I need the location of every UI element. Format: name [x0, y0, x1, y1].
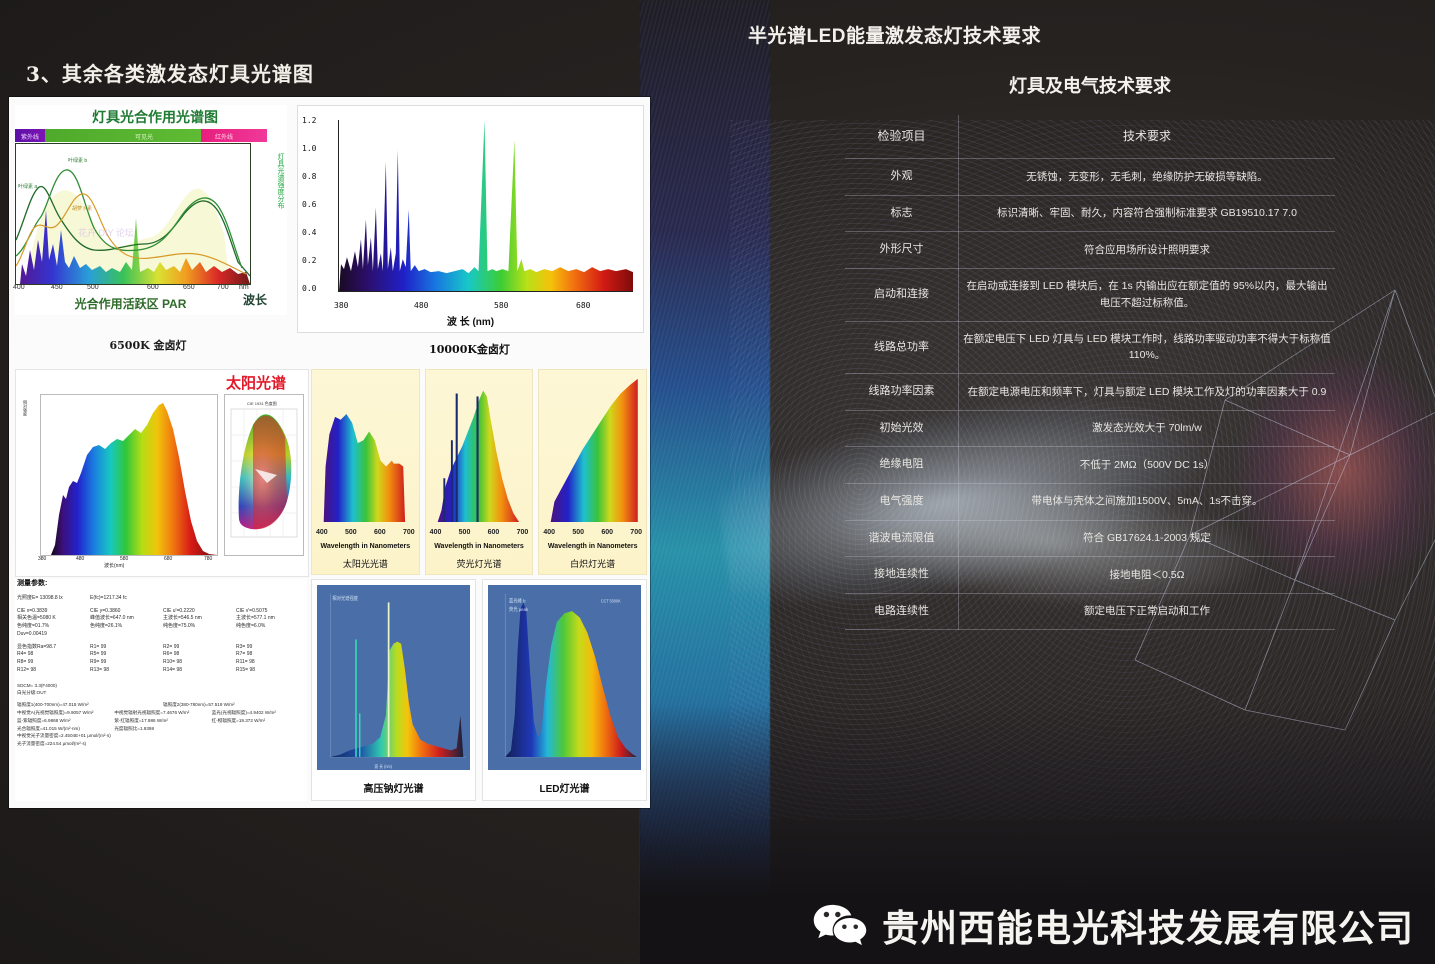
row-requirement-value: 不低于 2MΩ（500V DC 1s）	[959, 447, 1336, 484]
left-section-heading: 3、其余各类激发态灯具光谱图	[26, 58, 314, 87]
x-tick: 500	[459, 529, 471, 536]
x-tick: 480	[414, 301, 428, 310]
params-row: R12= 98 R13= 98 R14= 98 R15= 98	[15, 667, 307, 675]
param-note: SDCM= 3.3(F4000)	[15, 682, 307, 690]
solar-y-axis-label: 相对强度	[22, 400, 28, 416]
param-note: 光子流量密度=224.54 μmol/(m²·s)	[15, 740, 307, 748]
param-cell: 纯色度=75.0%	[161, 623, 234, 631]
table-row: 电气强度 带电体与壳体之间施加1500V、5mA、1s不击穿。	[845, 483, 1335, 520]
x-tick: 700	[217, 284, 229, 291]
param-cell: R6= 98	[161, 651, 234, 659]
param-cell: R14= 98	[161, 667, 234, 675]
footer-bar: 贵州西能电光科技发展有限公司	[812, 898, 1414, 952]
table-row: 线路功率因素 在额定电源电压和频率下，灯具与额定 LED 模块工作及灯的功率因素…	[845, 374, 1335, 411]
svg-text:CCT 5000K: CCT 5000K	[601, 598, 621, 603]
right-panel-subtitle: 灯具及电气技术要求	[845, 72, 1335, 98]
y-tick: 0.8	[302, 172, 316, 181]
param-note: 辐照度2(380-780nm)=57.519 W/m²	[161, 701, 307, 709]
mini-chart-sunlight: 400 500 600 700 Wavelength in Nanometers…	[311, 369, 420, 575]
row-item-label: 谐波电流限值	[845, 520, 959, 557]
row-requirement-value: 符合应用场所设计照明要求	[959, 232, 1336, 269]
row-requirement-value: 符合 GB17624.1-2003 规定	[959, 520, 1336, 557]
param-cell	[234, 631, 307, 639]
x-tick: 700	[403, 529, 415, 536]
param-cell: R12= 98	[15, 667, 88, 675]
table-row: 谐波电流限值 符合 GB17624.1-2003 规定	[845, 520, 1335, 557]
photosynthesis-spectrum-chart: 灯具光合作用光谱图 紫外线 可见光 红外线	[15, 105, 287, 315]
y-tick: 0.4	[302, 228, 316, 237]
spectra-figure-card: 灯具光合作用光谱图 紫外线 可见光 红外线	[9, 97, 650, 808]
par-label: 光合作用活跃区 PAR	[23, 295, 238, 312]
row-item-label: 外形尺寸	[845, 232, 959, 269]
blue-chart-led: 蓝光峰 b 荧光 peak CCT 5000K LED灯光谱	[482, 579, 647, 801]
param-cell: 光照度E= 13098.8 lx	[15, 595, 88, 603]
row-item-label: 线路功率因素	[845, 374, 959, 411]
row-requirement-value: 激发态光效大于 70lm/w	[959, 410, 1336, 447]
company-name: 贵州西能电光科技发展有限公司	[882, 898, 1414, 952]
svg-text:蓝光峰 b: 蓝光峰 b	[509, 597, 526, 604]
blue-chart-caption: 高压钠灯光谱	[312, 780, 475, 795]
wechat-icon	[812, 903, 868, 947]
x-tick: 380	[38, 556, 46, 562]
slide-canvas: 3、其余各类激发态灯具光谱图 灯具光合作用光谱图 紫外线 可见光 红外线	[0, 0, 1435, 964]
svg-text:波 长 (nm): 波 长 (nm)	[374, 763, 392, 769]
x-tick: 700	[630, 529, 642, 536]
blue-chart-caption: LED灯光谱	[483, 780, 646, 795]
params-row: Duv=0.00419	[15, 631, 307, 639]
row-requirement-value: 接地电阻＜0.5Ω	[959, 557, 1336, 594]
x-tick: 580	[494, 301, 508, 310]
row-requirement-value: 无锈蚀，无变形，无毛刺，绝缘防护无破损等缺陷。	[959, 159, 1336, 196]
row-item-label: 外观	[845, 159, 959, 196]
mini-chart-caption: 白炽灯光谱	[539, 557, 646, 570]
mini-chart-incandescent: 400 500 600 700 Wavelength in Nanometers…	[538, 369, 647, 575]
tenk-x-axis-title: 波 长 (nm)	[298, 313, 643, 328]
param-cell: 色纯度=01.7%	[15, 623, 88, 631]
params-cri-table: 显色指数Ra=98.7 R1= 99 R2= 99 R3= 99 R4= 98 …	[15, 644, 307, 675]
row-requirement-value: 在额定电压下 LED 灯具与 LED 模块工作时，线路功率驱动功率不得大于标称值…	[959, 321, 1336, 374]
blue-plot-area: 相对光谱强度 波 长 (nm)	[317, 585, 470, 770]
blue-plot-area: 蓝光峰 b 荧光 peak CCT 5000K	[488, 585, 641, 770]
x-tick: 400	[13, 284, 25, 291]
params-heading: 测量参数:	[17, 579, 307, 590]
x-tick: 650	[183, 284, 195, 291]
row-requirement-value: 在额定电源电压和频率下，灯具与额定 LED 模块工作及灯的功率因素大于 0.9	[959, 374, 1336, 411]
param-note: 白光分级:OUT	[15, 689, 307, 697]
param-cell: R2= 99	[161, 644, 234, 652]
x-tick: 400	[316, 529, 328, 536]
photosynthesis-chart-caption: 6500K 金卤灯	[23, 337, 273, 353]
tenk-spectrum-chart: 1.2 1.0 0.8 0.6 0.4 0.2 0.0	[297, 105, 644, 333]
row-item-label: 电气强度	[845, 483, 959, 520]
right-panel-title: 半光谱LED能量激发态灯技术要求	[748, 21, 1041, 48]
param-note: 中视觉A(光视觉辐照度)=9.9057 W/m²	[15, 709, 112, 717]
svg-text:花卉 DIY 论坛: 花卉 DIY 论坛	[78, 227, 134, 238]
row-item-label: 线路总功率	[845, 321, 959, 374]
svg-text:荧光 peak: 荧光 peak	[509, 606, 529, 613]
mini-x-title: Wavelength in Nanometers	[312, 543, 419, 550]
x-tick: 780	[204, 556, 212, 562]
svg-text:胡萝卜素: 胡萝卜素	[72, 205, 92, 212]
param-cell	[161, 595, 234, 603]
param-note: 辐照度1(400-700nm)=47.015 W/m²	[15, 701, 161, 709]
x-tick: 500	[87, 284, 99, 291]
params-notes-block: SDCM= 3.3(F4000) 白光分级:OUT 辐照度1(400-700nm…	[15, 682, 307, 748]
table-row: 外观 无锈蚀，无变形，无毛刺，绝缘防护无破损等缺陷。	[845, 159, 1335, 196]
param-cell: R3= 99	[234, 644, 307, 652]
x-tick: 380	[334, 301, 348, 310]
param-note: 蓝-紫辐照度=6.9868 W/m²	[15, 717, 112, 725]
row-item-label: 接地连续性	[845, 557, 959, 594]
param-cell: R13= 98	[88, 667, 161, 675]
param-cell: 相关色温=5080 K	[15, 615, 88, 623]
column-header-item: 检验项目	[845, 115, 959, 159]
params-row: 显色指数Ra=98.7 R1= 99 R2= 99 R3= 99	[15, 644, 307, 652]
solar-chart-title: 太阳光谱	[226, 372, 286, 393]
svg-text:叶绿素 b: 叶绿素 b	[68, 157, 87, 164]
tenk-plot-area	[338, 120, 633, 292]
table-row: 标志 标识清晰、牢固、耐久，内容符合强制标准要求 GB19510.17 7.0	[845, 195, 1335, 232]
param-cell	[88, 631, 161, 639]
mini-plot-area	[432, 376, 527, 522]
param-cell: R15= 98	[234, 667, 307, 675]
table-row: 外形尺寸 符合应用场所设计照明要求	[845, 232, 1335, 269]
y-tick: 0.6	[302, 200, 316, 209]
x-tick: 600	[374, 529, 386, 536]
band-label-uv: 紫外线	[21, 132, 39, 141]
mini-chart-caption: 荧光灯光谱	[426, 557, 533, 570]
params-row: 色纯度=01.7% 色纯度=26.1% 纯色度=75.0% 纯色度=6.0%	[15, 623, 307, 631]
param-cell: R10= 98	[161, 659, 234, 667]
y-tick: 1.2	[302, 116, 316, 125]
x-tick: 500	[345, 529, 357, 536]
mini-chart-caption: 太阳光光谱	[312, 557, 419, 570]
photosynthesis-y-axis-label: 灯具光谱强度分布	[275, 153, 285, 209]
table-row: 接地连续性 接地电阻＜0.5Ω	[845, 557, 1335, 594]
param-cell: Duv=0.00419	[15, 631, 88, 639]
cie-chromaticity-diagram: CIE 1931 色度图	[224, 394, 304, 556]
mini-x-ticks: 400 500 600 700	[316, 529, 415, 536]
blue-spectra-row: 相对光谱强度 波 长 (nm) 高压钠灯光谱	[311, 579, 647, 801]
x-tick: 400	[543, 529, 555, 536]
mini-x-title: Wavelength in Nanometers	[539, 543, 646, 550]
x-tick: 450	[51, 284, 63, 291]
solar-spectrum-chart: 太阳光谱 相对强度	[15, 369, 309, 577]
mini-x-ticks: 400 500 600 700	[430, 529, 529, 536]
row-requirement-value: 额定电压下正常启动和工作	[959, 593, 1336, 630]
mini-x-ticks: 400 500 600 700	[543, 529, 642, 536]
y-tick: 0.0	[302, 284, 316, 293]
column-header-requirement: 技术要求	[959, 115, 1336, 159]
x-tick: 680	[576, 301, 590, 310]
x-tick: 600	[488, 529, 500, 536]
param-note: 光合辐照度=41.015 W/(m²·nm)	[15, 725, 112, 733]
svg-text:相对光谱强度: 相对光谱强度	[332, 595, 358, 602]
param-cell: R1= 99	[88, 644, 161, 652]
param-cell: 峰值波长=647.0 nm	[88, 615, 161, 623]
row-item-label: 标志	[845, 195, 959, 232]
param-cell: 显色指数Ra=98.7	[15, 644, 88, 652]
params-row: 相关色温=5080 K 峰值波长=647.0 nm 主波长=546.5 nm 主…	[15, 615, 307, 623]
x-tick-unit: nm	[239, 284, 249, 291]
param-cell	[161, 631, 234, 639]
mini-plot-area	[545, 376, 640, 522]
photosynthesis-chart-title: 灯具光合作用光谱图	[35, 107, 275, 127]
row-item-label: 初始光效	[845, 410, 959, 447]
param-cell: R8= 99	[15, 659, 88, 667]
param-note: 中视觉光子流量密度=2.4504E+01 μmol/(m²·s)	[15, 732, 307, 740]
param-cell: 色纯度=26.1%	[88, 623, 161, 631]
spec-requirements-table: 检验项目 技术要求 外观 无锈蚀，无变形，无毛刺，绝缘防护无破损等缺陷。 标志 …	[845, 115, 1335, 630]
param-note: 蓝光(光视辐照度)=4.9402 W/m²	[210, 709, 307, 717]
param-cell: 主波长=546.5 nm	[161, 615, 234, 623]
band-label-visible: 可见光	[135, 132, 153, 141]
row-item-label: 电路连续性	[845, 593, 959, 630]
row-item-label: 绝缘电阻	[845, 447, 959, 484]
param-cell	[234, 595, 307, 603]
table-row: 绝缘电阻 不低于 2MΩ（500V DC 1s）	[845, 447, 1335, 484]
params-row: R8= 99 R9= 99 R10= 98 R11= 98	[15, 659, 307, 667]
photosynthesis-plot-area: 叶绿素 b 叶绿素 a 胡萝卜素 花卉 DIY 论坛	[15, 143, 251, 285]
x-tick: 700	[517, 529, 529, 536]
table-row: 线路总功率 在额定电压下 LED 灯具与 LED 模块工作时，线路功率驱动功率不…	[845, 321, 1335, 374]
mini-plot-area	[318, 376, 413, 522]
mini-spectra-row: 400 500 600 700 Wavelength in Nanometers…	[311, 369, 647, 575]
mini-chart-fluorescent: 400 500 600 700 Wavelength in Nanometers…	[425, 369, 534, 575]
param-cell: R5= 99	[88, 651, 161, 659]
param-note: 中视觉辐射光视辐照度=7.4676 W/m²	[112, 709, 209, 717]
param-note: 光度辐照比=1.9398	[112, 725, 209, 733]
x-tick: 680	[164, 556, 172, 562]
table-row: 电路连续性 额定电压下正常启动和工作	[845, 593, 1335, 630]
spectrum-band-bar: 紫外线 可见光 红外线	[15, 129, 267, 142]
svg-text:叶绿素 a: 叶绿素 a	[18, 183, 37, 190]
param-cell: R4= 98	[15, 651, 88, 659]
x-tick: 400	[430, 529, 442, 536]
x-tick: 500	[572, 529, 584, 536]
table-header-row: 检验项目 技术要求	[845, 115, 1335, 159]
x-tick: 600	[601, 529, 613, 536]
tenk-chart-caption: 10000K金卤灯	[297, 341, 642, 357]
param-cell: E(fc)=1217.34 fc	[88, 595, 161, 603]
table-row: 初始光效 激发态光效大于 70lm/w	[845, 410, 1335, 447]
solar-plot-area	[40, 394, 218, 556]
row-requirement-value: 带电体与壳体之间施加1500V、5mA、1s不击穿。	[959, 483, 1336, 520]
param-note: 红-橙辐照度=19.372 W/m²	[210, 717, 307, 725]
photosynthesis-x-axis-title: 波长	[243, 291, 267, 308]
param-note: 紫-红辐照度=17.986 W/m²	[112, 717, 209, 725]
row-requirement-value: 标识清晰、牢固、耐久，内容符合强制标准要求 GB19510.17 7.0	[959, 195, 1336, 232]
param-cell: R9= 99	[88, 659, 161, 667]
params-row: R4= 98 R5= 99 R6= 98 R7= 98	[15, 651, 307, 659]
param-cell: R7= 98	[234, 651, 307, 659]
measurement-parameters-block: 测量参数: 光照度E= 13098.8 lx E(fc)=1217.34 fc …	[15, 579, 307, 801]
row-requirement-value: 在启动或连接到 LED 模块后，在 1s 内输出应在额定值的 95%以内，最大输…	[959, 268, 1336, 321]
table-row: 启动和连接 在启动或连接到 LED 模块后，在 1s 内输出应在额定值的 95%…	[845, 268, 1335, 321]
mini-x-title: Wavelength in Nanometers	[426, 543, 533, 550]
blue-chart-sodium: 相对光谱强度 波 长 (nm) 高压钠灯光谱	[311, 579, 476, 801]
x-tick: 600	[147, 284, 159, 291]
svg-text:CIE 1931 色度图: CIE 1931 色度图	[247, 400, 277, 406]
x-tick: 480	[76, 556, 84, 562]
params-primary-table: 光照度E= 13098.8 lx E(fc)=1217.34 fc	[15, 595, 307, 603]
row-item-label: 启动和连接	[845, 268, 959, 321]
y-tick: 1.0	[302, 144, 316, 153]
y-tick: 0.2	[302, 256, 316, 265]
param-cell: 主波长=577.1 nm	[234, 615, 307, 623]
param-cell: 纯色度=6.0%	[234, 623, 307, 631]
param-cell: R11= 98	[234, 659, 307, 667]
band-label-ir: 红外线	[215, 132, 233, 141]
x-axis-title: 波长(nm)	[104, 562, 124, 569]
params-cie-table: CIE x=0.3839 CIE y=0.3860 CIE u'=0.2220 …	[15, 608, 307, 639]
params-row: 光照度E= 13098.8 lx E(fc)=1217.34 fc	[15, 595, 307, 603]
